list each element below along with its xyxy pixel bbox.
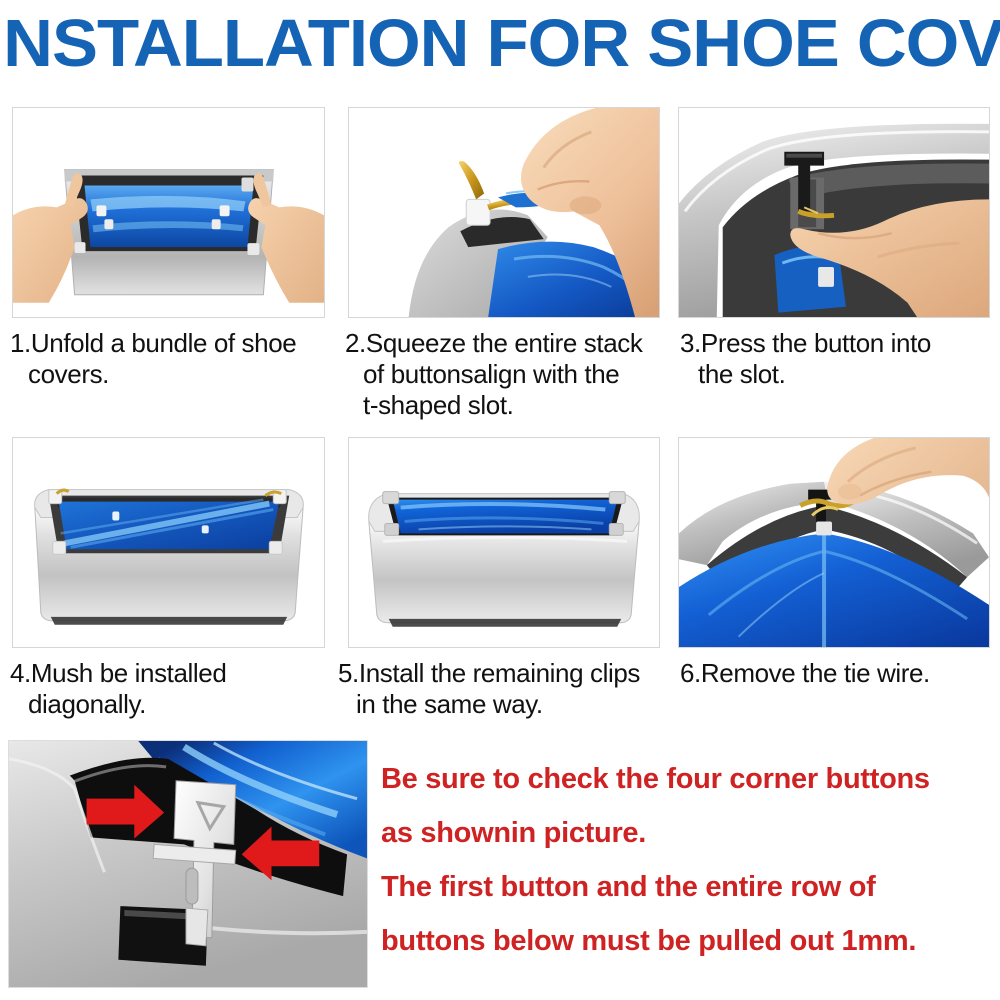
warning-line-4: buttons below must be pulled out 1mm. [381,914,996,968]
warning-line-3: The first button and the entire row of [381,860,996,914]
step-text-5-line2: in the same way. [338,689,683,720]
step-text-2-line3: t-shaped slot. [345,390,680,421]
illustration-press-button-into-slot [679,108,989,318]
step-caption-2: 2.Squeeze the entire stack of buttonsali… [345,328,680,421]
step-text-2-line1: Squeeze the entire stack [366,328,643,358]
illustration-clip-closeup-with-arrows [9,741,367,988]
illustration-all-clips-installed [349,438,659,648]
illustration-squeeze-stack-clip [349,108,659,318]
step-number-2: 2. [345,328,366,358]
step-caption-4: 4.Mush be installed diagonally. [10,658,340,720]
detail-photo-clip-in-slot [8,740,368,988]
illustration-hands-holding-dispenser [13,108,324,318]
step-text-2-line2: of buttonsalign with the [345,359,680,390]
step-caption-5: 5.Install the remaining clips in the sam… [338,658,683,720]
step-number-6: 6. [680,658,701,688]
illustration-covers-installed-diagonally [13,438,324,648]
step-image-5 [348,437,660,648]
step-caption-1: 1.Unfold a bundle of shoe covers. [10,328,350,390]
step-image-6 [678,437,990,648]
step-number-1: 1. [10,328,31,358]
step-image-2 [348,107,660,318]
step-text-6-line1: Remove the tie wire. [701,658,930,688]
warning-notes: Be sure to check the four corner buttons… [381,752,996,968]
step-text-5-line1: Install the remaining clips [359,658,640,688]
step-text-3-line2: the slot. [680,359,1000,390]
step-number-3: 3. [680,328,701,358]
step-image-4 [12,437,325,648]
step-caption-3: 3.Press the button into the slot. [680,328,1000,390]
step-text-1-line1: Unfold a bundle of shoe [31,328,296,358]
illustration-remove-tie-wire [679,438,989,648]
step-number-4: 4. [10,658,31,688]
step-text-3-line1: Press the button into [701,328,931,358]
step-image-1 [12,107,325,318]
step-caption-6: 6.Remove the tie wire. [680,658,1000,689]
step-text-4-line2: diagonally. [10,689,340,720]
page-title: INSTALLATION FOR SHOE COVERS [0,6,1000,82]
warning-line-1: Be sure to check the four corner buttons [381,752,996,806]
step-number-5: 5. [338,658,359,688]
step-text-1-line2: covers. [10,359,350,390]
step-text-4-line1: Mush be installed [31,658,227,688]
warning-line-2: as shownin picture. [381,806,996,860]
step-image-3 [678,107,990,318]
